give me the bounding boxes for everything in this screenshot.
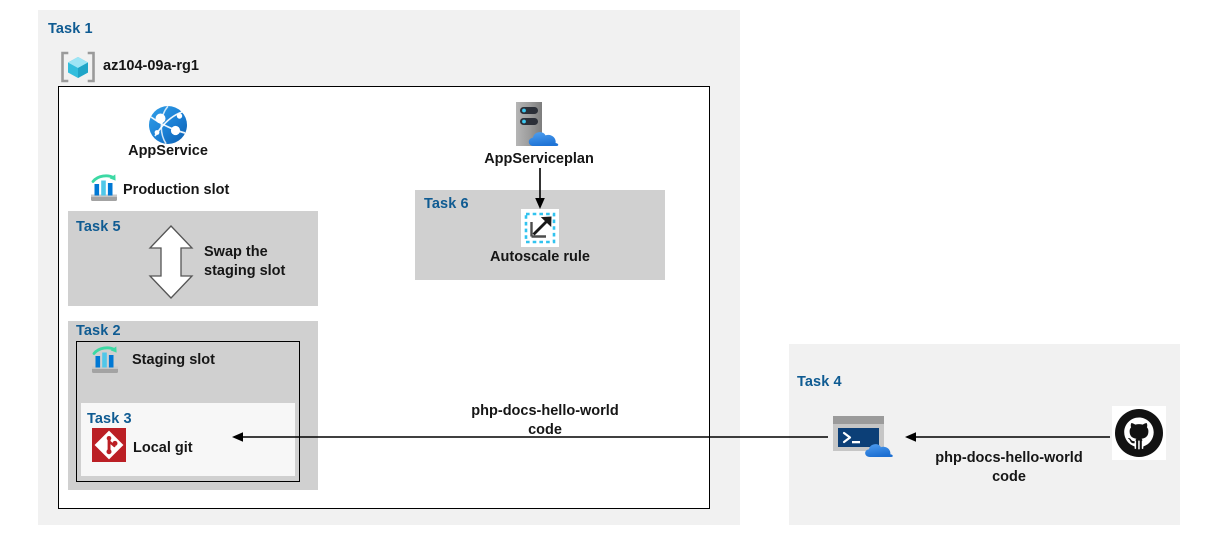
deployment-slot-icon-production	[88, 173, 120, 205]
task3-label: Task 3	[87, 411, 132, 427]
task5-action-line1: Swap the	[204, 243, 268, 262]
php-code-label-task1-line1: php-docs-hello-world	[445, 402, 645, 421]
task5-action-line2: staging slot	[204, 262, 285, 281]
github-octocat-icon	[1112, 406, 1166, 460]
production-slot-name: Production slot	[123, 181, 229, 200]
autoscale-arrow-icon	[521, 209, 559, 247]
swap-double-arrow-icon	[145, 224, 197, 300]
diagram-canvas: Task 1 az104-09a-rg1	[0, 0, 1218, 545]
deployment-slot-icon-staging	[89, 345, 121, 377]
task4-label: Task 4	[797, 374, 842, 390]
task5-label: Task 5	[76, 219, 121, 235]
app-service-plan-name: AppServiceplan	[459, 150, 619, 169]
php-code-label-task4-line2: code	[909, 468, 1109, 487]
local-git-name: Local git	[133, 439, 193, 458]
git-icon	[92, 428, 126, 462]
app-service-plan-icon	[509, 100, 569, 152]
resource-group-name: az104-09a-rg1	[103, 57, 199, 76]
task1-label: Task 1	[48, 21, 93, 37]
task6-label: Task 6	[424, 196, 469, 212]
cloud-shell-icon	[831, 413, 901, 463]
app-service-globe-icon	[146, 103, 190, 147]
app-service-name: AppService	[113, 142, 223, 161]
php-code-label-task1-line2: code	[445, 421, 645, 440]
resource-group-cube-icon	[60, 50, 96, 84]
staging-slot-name: Staging slot	[132, 351, 215, 370]
task2-label: Task 2	[76, 323, 121, 339]
autoscale-rule-name: Autoscale rule	[460, 248, 620, 267]
php-code-label-task4-line1: php-docs-hello-world	[909, 449, 1109, 468]
